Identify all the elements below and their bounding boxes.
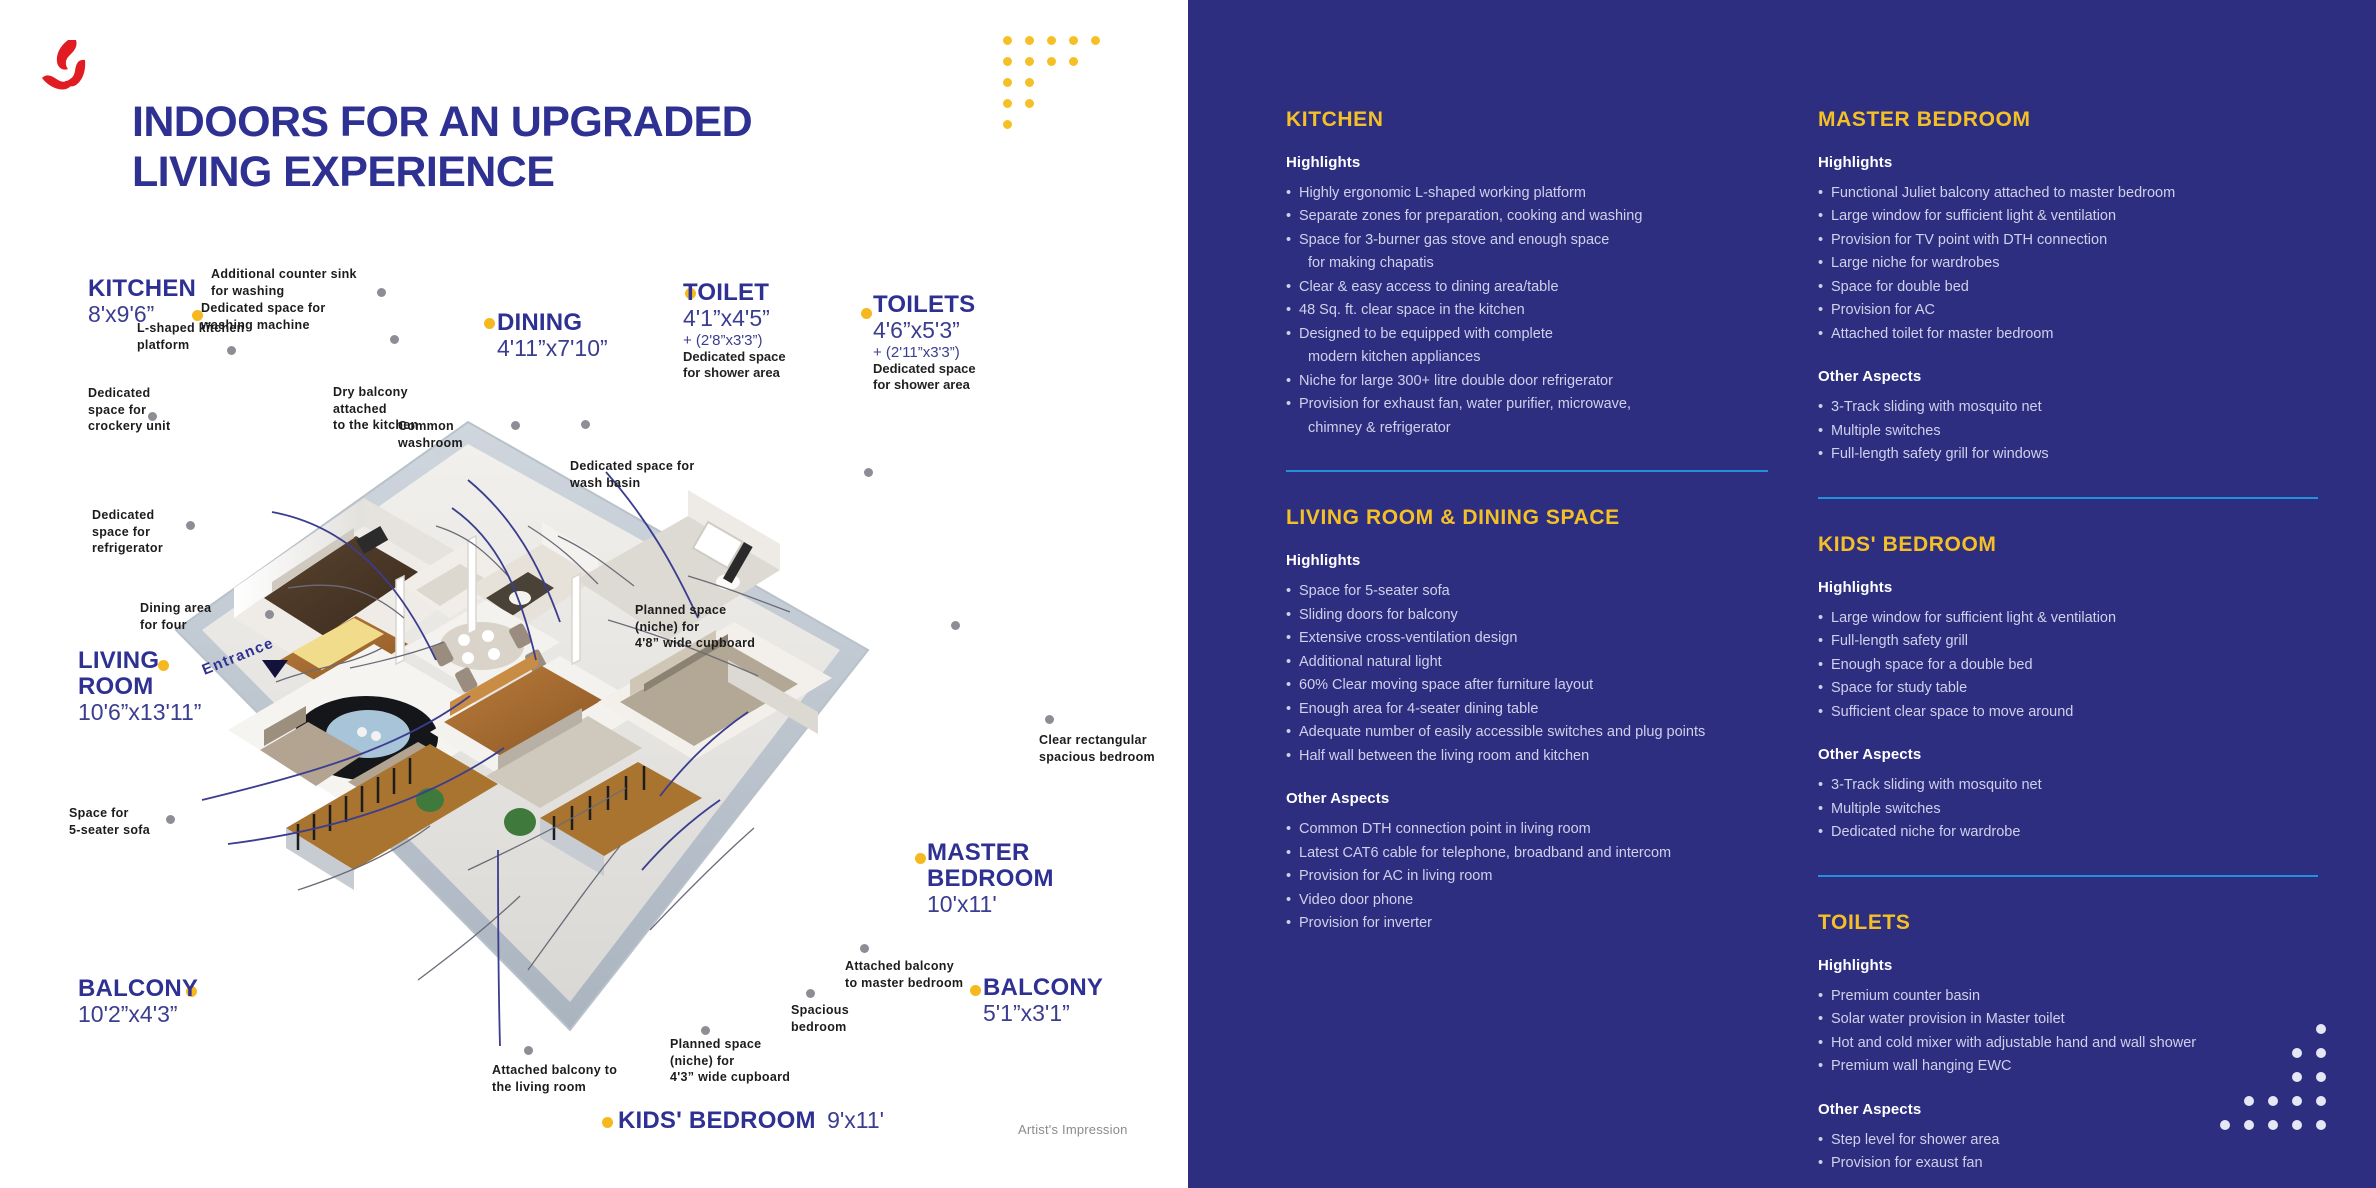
spec-list-item: Additional natural light: [1286, 651, 1768, 674]
spec-list-item: Provision for AC in living room: [1286, 865, 1768, 888]
spec-section: KIDS' BEDROOMHighlightsLarge window for …: [1818, 533, 2318, 845]
spec-group-heading: Highlights: [1818, 154, 2318, 171]
note-dot: [166, 815, 175, 824]
room-name: BALCONY: [983, 975, 1103, 1001]
spec-list-item: Space for double bed: [1818, 276, 2318, 299]
plan-note: Spacious bedroom: [791, 1002, 849, 1035]
room-label-toilet: TOILET 4'1”x4'5” + (2'8”x3'3”) Dedicated…: [683, 280, 786, 380]
spec-list: Space for 5-seater sofaSliding doors for…: [1286, 580, 1768, 768]
room-extra-dimension: + (2'11”x3'3”): [873, 344, 976, 361]
spec-group-heading: Highlights: [1818, 957, 2318, 974]
room-dimension: 5'1”x3'1”: [983, 1001, 1103, 1027]
room-dimension: 10'x11': [927, 892, 1054, 918]
room-name: KITCHEN: [88, 276, 196, 302]
room-name: TOILET: [683, 280, 786, 306]
room-name-line-2: BEDROOM: [927, 866, 1054, 892]
headline-line-2: LIVING EXPERIENCE: [132, 148, 832, 198]
spec-list: Large window for sufficient light & vent…: [1818, 607, 2318, 724]
spec-list-item: modern kitchen appliances: [1286, 346, 1768, 369]
room-extra-note-1: Dedicated space: [873, 361, 976, 377]
spec-list-item: chimney & refrigerator: [1286, 417, 1768, 440]
spec-section: LIVING ROOM & DINING SPACEHighlightsSpac…: [1286, 506, 1768, 935]
spec-list-item: Provision for exhaust fan, water purifie…: [1286, 393, 1768, 416]
plan-note: L-shaped kitchen platform: [137, 320, 245, 353]
spec-list-item: Sliding doors for balcony: [1286, 604, 1768, 627]
spec-list-item: Enough space for a double bed: [1818, 654, 2318, 677]
floorplan-panel: INDOORS FOR AN UPGRADED LIVING EXPERIENC…: [0, 0, 1188, 1188]
spec-list-item: Latest CAT6 cable for telephone, broadba…: [1286, 842, 1768, 865]
plan-note: Space for 5-seater sofa: [69, 805, 150, 838]
artist-impression-note: Artist's Impression: [1018, 1122, 1128, 1137]
spec-list-item: Provision for TV point with DTH connecti…: [1818, 229, 2318, 252]
spec-list-item: Separate zones for preparation, cooking …: [1286, 205, 1768, 228]
room-label-master-bedroom: MASTER BEDROOM 10'x11': [927, 840, 1054, 918]
spacer: [1818, 724, 2318, 746]
room-dimension: 4'6”x5'3”: [873, 318, 976, 344]
plan-note: Dedicated space for crockery unit: [88, 385, 170, 435]
room-extra-dimension: + (2'8”x3'3”): [683, 332, 786, 349]
spec-list-item: 3-Track sliding with mosquito net: [1818, 396, 2318, 419]
note-dot: [860, 944, 869, 953]
room-label-toilets: TOILETS 4'6”x5'3” + (2'11”x3'3”) Dedicat…: [873, 292, 976, 392]
spec-list-item: Niche for large 300+ litre double door r…: [1286, 370, 1768, 393]
spec-list-item: Video door phone: [1286, 889, 1768, 912]
room-name-line-2: ROOM: [78, 674, 201, 700]
plan-note: Common washroom: [398, 418, 463, 451]
spec-list-item: Common DTH connection point in living ro…: [1286, 818, 1768, 841]
spec-group-heading: Other Aspects: [1818, 368, 2318, 385]
note-dot: [701, 1026, 710, 1035]
room-dimension: 9'x11': [827, 1107, 884, 1133]
dot-pattern-icon: [1003, 36, 1103, 120]
spec-list-item: Provision for inverter: [1286, 912, 1768, 935]
room-name: BALCONY: [78, 976, 198, 1002]
spacer: [1818, 346, 2318, 368]
spec-list-item: Dedicated niche for wardrobe: [1818, 821, 2318, 844]
entrance-arrow-icon: [262, 660, 288, 678]
room-label-dining: DINING 4'11”x7'10”: [497, 310, 608, 362]
room-dimension: 10'2”x4'3”: [78, 1002, 198, 1028]
spec-section-title: KIDS' BEDROOM: [1818, 533, 2318, 557]
section-divider: [1286, 470, 1768, 472]
note-dot: [186, 521, 195, 530]
spec-section: MASTER BEDROOMHighlightsFunctional Julie…: [1818, 108, 2318, 467]
room-name-line-1: MASTER: [927, 840, 1054, 866]
section-divider: [1818, 875, 2318, 877]
spec-list-item: Large niche for wardrobes: [1818, 252, 2318, 275]
spec-section: KITCHENHighlightsHighly ergonomic L-shap…: [1286, 108, 1768, 440]
spec-list-item: Attached toilet for master bedroom: [1818, 323, 2318, 346]
note-dot: [1045, 715, 1054, 724]
plan-note: Clear rectangular spacious bedroom: [1039, 732, 1155, 765]
plan-note: Planned space (niche) for 4'3” wide cupb…: [670, 1036, 790, 1086]
headline-line-1: INDOORS FOR AN UPGRADED: [132, 98, 832, 148]
spec-group-heading: Highlights: [1286, 154, 1768, 171]
spec-column-right: MASTER BEDROOMHighlightsFunctional Julie…: [1818, 108, 2318, 1176]
room-dimension: 4'1”x4'5”: [683, 306, 786, 332]
room-label-living-room: LIVING ROOM 10'6”x13'11”: [78, 648, 201, 726]
spec-list-item: 60% Clear moving space after furniture l…: [1286, 674, 1768, 697]
spec-group-heading: Other Aspects: [1818, 746, 2318, 763]
spec-list-item: Enough area for 4-seater dining table: [1286, 698, 1768, 721]
room-label-kids-bedroom: KIDS' BEDROOM 9'x11': [618, 1108, 884, 1134]
room-name: DINING: [497, 310, 608, 336]
spec-list-item: Large window for sufficient light & vent…: [1818, 205, 2318, 228]
spec-list-item: Provision for AC: [1818, 299, 2318, 322]
spec-list-item: Space for 5-seater sofa: [1286, 580, 1768, 603]
room-extra-note-1: Dedicated space: [683, 349, 786, 365]
spec-list-item: Full-length safety grill: [1818, 630, 2318, 653]
spec-list-item: Multiple switches: [1818, 798, 2318, 821]
room-name: TOILETS: [873, 292, 976, 318]
spec-section-title: LIVING ROOM & DINING SPACE: [1286, 506, 1768, 530]
room-dimension: 10'6”x13'11”: [78, 700, 201, 726]
spec-group-heading: Highlights: [1286, 552, 1768, 569]
spec-list-item: Full-length safety grill for windows: [1818, 443, 2318, 466]
spec-list-item: Large window for sufficient light & vent…: [1818, 607, 2318, 630]
spec-section-title: KITCHEN: [1286, 108, 1768, 132]
plan-note: Additional counter sink for washing: [211, 266, 357, 299]
spec-list: Functional Juliet balcony attached to ma…: [1818, 182, 2318, 346]
note-dot: [265, 610, 274, 619]
spec-list-item: Premium counter basin: [1818, 985, 2318, 1008]
spec-list-item: Designed to be equipped with complete: [1286, 323, 1768, 346]
spec-list: Common DTH connection point in living ro…: [1286, 818, 1768, 935]
floorplan-image: [168, 330, 898, 1050]
note-dot: [806, 989, 815, 998]
spec-list-item: Space for 3-burner gas stove and enough …: [1286, 229, 1768, 252]
spec-list-item: 48 Sq. ft. clear space in the kitchen: [1286, 299, 1768, 322]
dot-pattern-icon: [2206, 1024, 2326, 1144]
spec-list-item: Multiple switches: [1818, 420, 2318, 443]
spec-list-item: 3-Track sliding with mosquito net: [1818, 774, 2318, 797]
spacer: [1286, 768, 1768, 790]
specifications-panel: KITCHENHighlightsHighly ergonomic L-shap…: [1188, 0, 2376, 1188]
callout-dot: [602, 1117, 613, 1128]
note-dot: [390, 335, 399, 344]
callout-dot: [861, 308, 872, 319]
spec-list-item: Functional Juliet balcony attached to ma…: [1818, 182, 2318, 205]
section-divider: [1818, 497, 2318, 499]
plan-note: Dedicated space for wash basin: [570, 458, 695, 491]
room-name: KIDS' BEDROOM: [618, 1107, 816, 1134]
room-label-balcony-master: BALCONY 5'1”x3'1”: [983, 975, 1103, 1027]
note-dot: [511, 421, 520, 430]
spec-group-heading: Highlights: [1818, 579, 2318, 596]
note-dot: [951, 621, 960, 630]
note-dot: [864, 468, 873, 477]
room-label-balcony-living: BALCONY 10'2”x4'3”: [78, 976, 198, 1028]
spec-list: 3-Track sliding with mosquito netMultipl…: [1818, 774, 2318, 844]
plan-note: Dining area for four: [140, 600, 211, 633]
spec-list-item: Half wall between the living room and ki…: [1286, 745, 1768, 768]
spec-list-item: Sufficient clear space to move around: [1818, 701, 2318, 724]
note-dot: [377, 288, 386, 297]
spec-list: 3-Track sliding with mosquito netMultipl…: [1818, 396, 2318, 466]
callout-dot: [484, 318, 495, 329]
room-extra-note-2: for shower area: [683, 365, 786, 381]
spec-section-title: MASTER BEDROOM: [1818, 108, 2318, 132]
spec-list: Highly ergonomic L-shaped working platfo…: [1286, 182, 1768, 440]
spec-list-item: Highly ergonomic L-shaped working platfo…: [1286, 182, 1768, 205]
brochure-page: INDOORS FOR AN UPGRADED LIVING EXPERIENC…: [0, 0, 2376, 1188]
spec-list-item: Adequate number of easily accessible swi…: [1286, 721, 1768, 744]
spec-list-item: Provision for exaust fan: [1818, 1152, 2318, 1175]
note-dot: [581, 420, 590, 429]
plan-note: Attached balcony to master bedroom: [845, 958, 963, 991]
spec-list-item: Extensive cross-ventilation design: [1286, 627, 1768, 650]
spec-list-item: Space for study table: [1818, 677, 2318, 700]
note-dot: [524, 1046, 533, 1055]
plan-note: Attached balcony to the living room: [492, 1062, 617, 1095]
page-title: INDOORS FOR AN UPGRADED LIVING EXPERIENC…: [132, 98, 832, 198]
plan-note: Planned space (niche) for 4'8” wide cupb…: [635, 602, 755, 652]
spec-list-item: for making chapatis: [1286, 252, 1768, 275]
room-name-line-1: LIVING: [78, 648, 201, 674]
callout-dot: [970, 985, 981, 996]
company-logo: [38, 38, 90, 94]
spec-section-title: TOILETS: [1818, 911, 2318, 935]
callout-dot: [915, 853, 926, 864]
spec-list-item: Clear & easy access to dining area/table: [1286, 276, 1768, 299]
room-extra-note-2: for shower area: [873, 377, 976, 393]
spec-group-heading: Other Aspects: [1286, 790, 1768, 807]
spec-column-left: KITCHENHighlightsHighly ergonomic L-shap…: [1286, 108, 1768, 936]
plan-note: Dedicated space for refrigerator: [92, 507, 163, 557]
room-dimension: 4'11”x7'10”: [497, 336, 608, 362]
